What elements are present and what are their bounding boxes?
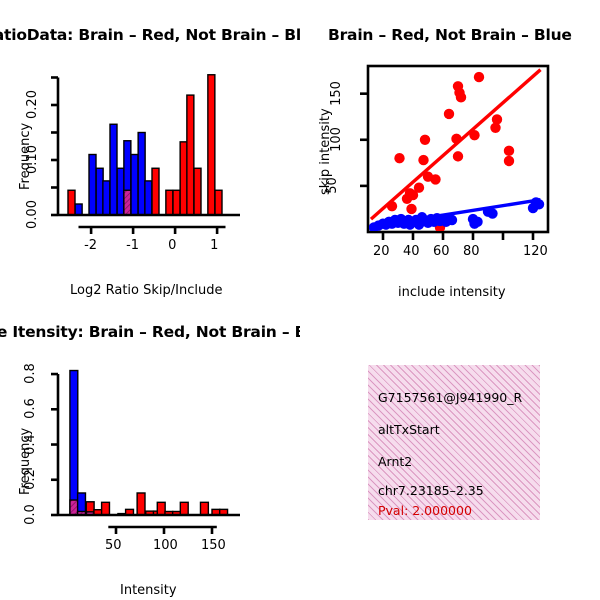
y-tick-label: 0.10 bbox=[25, 145, 40, 174]
intensity-histogram-bars bbox=[70, 371, 228, 515]
y-tick-label: 0.20 bbox=[25, 90, 40, 119]
scatter-point bbox=[453, 151, 463, 161]
histogram-bar bbox=[200, 502, 208, 515]
ratio-histogram-bars bbox=[68, 75, 222, 215]
ratio-histogram-canvas bbox=[0, 0, 300, 300]
y-tick-label: 100 bbox=[329, 127, 344, 152]
ratio-histogram-x-axis-label: Log2 Ratio Skip/Include bbox=[70, 283, 222, 298]
histogram-bar bbox=[180, 142, 187, 215]
scatter-point bbox=[418, 155, 428, 165]
scatter-point bbox=[430, 174, 440, 184]
histogram-bar bbox=[89, 155, 96, 216]
y-tick-label: 0.6 bbox=[23, 398, 38, 419]
x-tick-label: 40 bbox=[403, 244, 420, 259]
histogram-bar bbox=[137, 493, 145, 515]
x-tick-label: -1 bbox=[126, 238, 139, 253]
scatter-point bbox=[406, 204, 416, 214]
scatter-title: Brain – Red, Not Brain – Blue bbox=[328, 26, 572, 44]
histogram-bar bbox=[157, 502, 165, 515]
histogram-bar bbox=[180, 502, 188, 515]
info-gene-symbol: Arnt2 bbox=[378, 454, 412, 469]
scatter-point bbox=[474, 72, 484, 82]
scatter-points bbox=[369, 72, 544, 233]
scatter-point bbox=[504, 146, 514, 156]
histogram-bar bbox=[103, 181, 110, 215]
scatter-point bbox=[420, 135, 430, 145]
scatter-point bbox=[402, 194, 412, 204]
x-tick-label: 80 bbox=[463, 244, 480, 259]
x-tick-label: -2 bbox=[84, 238, 97, 253]
histogram-bar bbox=[208, 75, 215, 215]
histogram-bar bbox=[131, 155, 138, 216]
info-locus: chr7.23185–2.35 bbox=[378, 483, 484, 498]
scatter-panel: Brain – Red, Not Brain – Blue skip inten… bbox=[300, 0, 600, 300]
x-tick-label: 60 bbox=[433, 244, 450, 259]
x-tick-label: 150 bbox=[201, 538, 226, 553]
info-event-type: altTxStart bbox=[378, 422, 440, 437]
y-tick-label: 0.4 bbox=[23, 434, 38, 455]
x-tick-label: 0 bbox=[168, 238, 176, 253]
histogram-bar bbox=[70, 371, 78, 515]
gene-info-panel: G7157561@J941990_R altTxStart Arnt2 chr7… bbox=[300, 300, 600, 600]
x-tick-label: 120 bbox=[523, 244, 548, 259]
histogram-bar bbox=[187, 95, 194, 215]
scatter-x-axis-label: include intensity bbox=[398, 285, 506, 300]
scatter-point bbox=[492, 114, 502, 124]
intensity-histogram-x-axis-label: Intensity bbox=[120, 583, 177, 598]
histogram-bar bbox=[166, 190, 173, 215]
intensity-histogram-title: ne Itensity: Brain – Red, Not Brain – B bbox=[0, 323, 300, 341]
scatter-point bbox=[414, 183, 424, 193]
scatter-point bbox=[447, 215, 457, 225]
y-tick-label: 0.00 bbox=[25, 200, 40, 229]
x-tick-label: 100 bbox=[153, 538, 178, 553]
histogram-bar bbox=[68, 190, 75, 215]
histogram-bar bbox=[194, 168, 201, 215]
x-tick-label: 20 bbox=[373, 244, 390, 259]
histogram-bar bbox=[138, 133, 145, 216]
scatter-point bbox=[472, 217, 482, 227]
histogram-bar bbox=[215, 190, 222, 215]
histogram-bar bbox=[117, 168, 124, 215]
histogram-bar bbox=[110, 124, 117, 215]
info-probe-id: G7157561@J941990_R bbox=[378, 390, 522, 405]
histogram-bar bbox=[152, 168, 159, 215]
histogram-bar bbox=[70, 500, 78, 515]
scatter-point bbox=[504, 156, 514, 166]
histogram-bar bbox=[102, 502, 110, 515]
x-tick-label: 1 bbox=[210, 238, 218, 253]
intensity-histogram-canvas bbox=[0, 300, 300, 600]
y-tick-label: 0.0 bbox=[23, 504, 38, 525]
scatter-point bbox=[444, 109, 454, 119]
histogram-bar bbox=[96, 168, 103, 215]
y-tick-label: 0.2 bbox=[23, 469, 38, 490]
y-tick-label: 0.8 bbox=[23, 363, 38, 384]
scatter-point bbox=[453, 81, 463, 91]
scatter-point bbox=[394, 153, 404, 163]
y-tick-label: 150 bbox=[329, 81, 344, 106]
ratio-histogram-title: RatioData: Brain – Red, Not Brain – Blu bbox=[0, 26, 300, 44]
intensity-histogram-panel: ne Itensity: Brain – Red, Not Brain – B … bbox=[0, 300, 300, 600]
histogram-bar bbox=[75, 204, 82, 215]
histogram-bar bbox=[124, 190, 131, 215]
histogram-bar bbox=[173, 190, 180, 215]
histogram-bar bbox=[145, 181, 152, 215]
info-pval: Pval: 2.000000 bbox=[378, 503, 472, 518]
ratio-histogram-panel: RatioData: Brain – Red, Not Brain – Blu … bbox=[0, 0, 300, 300]
y-tick-label: 50 bbox=[325, 177, 340, 194]
gene-info-box: G7157561@J941990_R altTxStart Arnt2 chr7… bbox=[368, 365, 540, 520]
scatter-point bbox=[456, 92, 466, 102]
scatter-point bbox=[487, 208, 497, 218]
x-tick-label: 50 bbox=[105, 538, 122, 553]
scatter-canvas bbox=[300, 0, 600, 300]
